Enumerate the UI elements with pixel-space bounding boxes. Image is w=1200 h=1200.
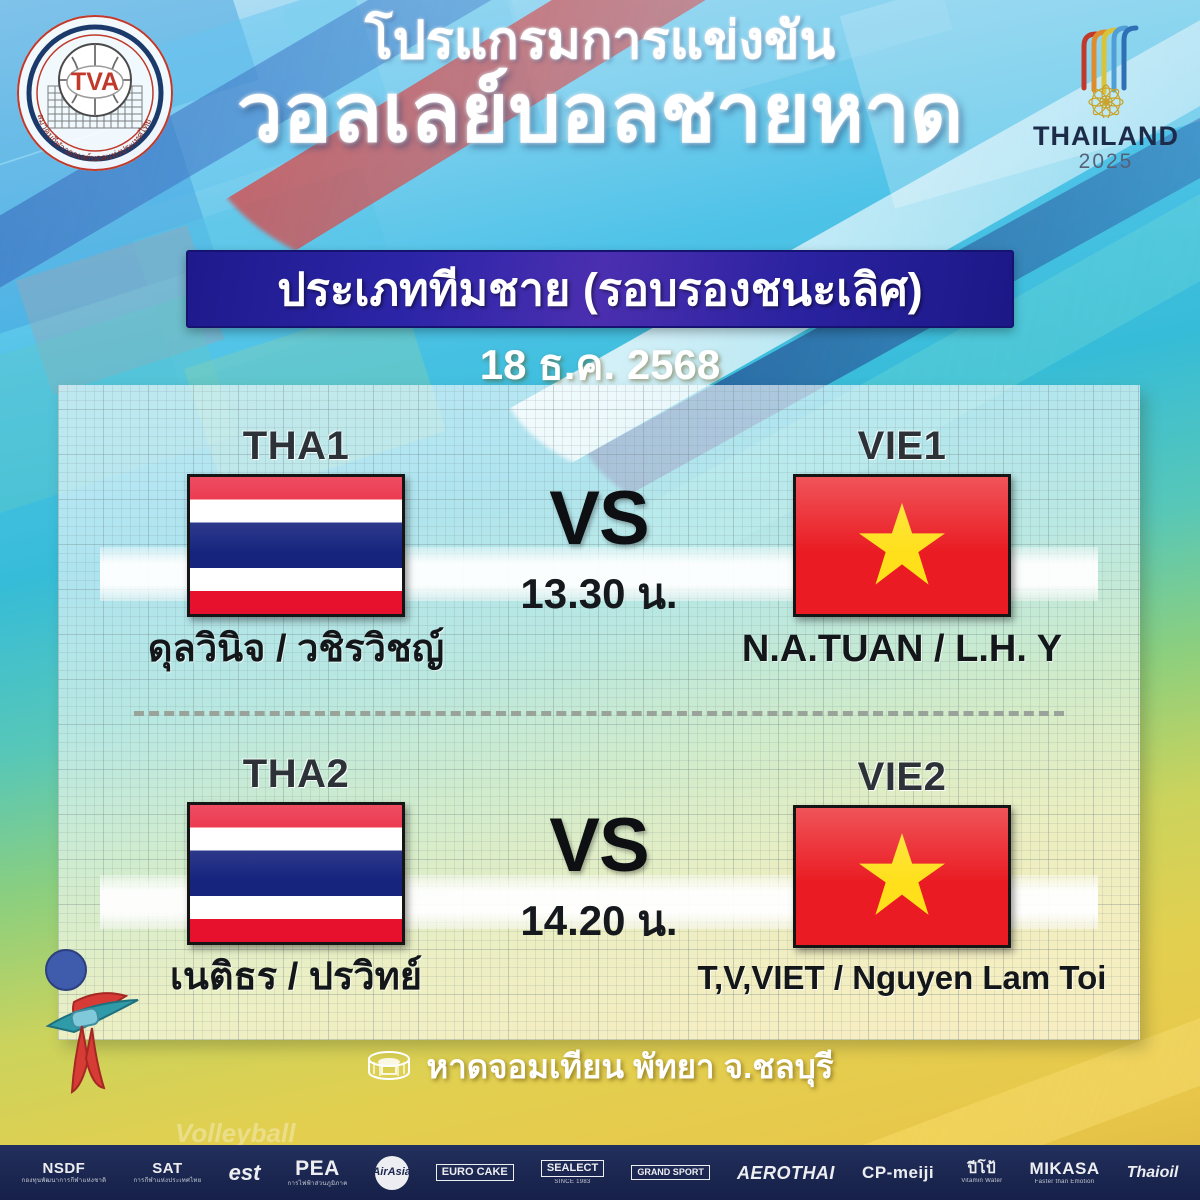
sponsor-sub: การกีฬาแห่งประเทศไทย	[133, 1178, 201, 1184]
sponsor-name: PEA	[295, 1158, 340, 1179]
sponsor-logo: NSDF กองทุนพัฒนาการกีฬาแห่งชาติ	[22, 1161, 107, 1184]
match-side-right: VIE2 T,V,VIET / Nguyen Lam Toi	[707, 757, 1097, 996]
sponsor-name: AEROTHAI	[737, 1164, 835, 1182]
sponsor-bar: NSDF กองทุนพัฒนาการกีฬาแห่งชาติ SAT การก…	[0, 1145, 1200, 1200]
player-names: N.A.TUAN / L.H. Y	[742, 629, 1062, 671]
sponsor-sub: การไฟฟ้าส่วนภูมิภาค	[288, 1181, 348, 1187]
sponsor-name: GRAND SPORT	[631, 1165, 710, 1180]
sponsor-logo: SEALECT SINCE 1983	[541, 1160, 604, 1185]
sponsor-name: NSDF	[43, 1161, 86, 1176]
category-banner: ประเภททีมชาย (รอบรองชนะเลิศ)	[186, 250, 1014, 328]
poster-root: TVA สมาคมกีฬาวอลเลย์บอลแห่งประเทศไทย	[0, 0, 1200, 1200]
star-icon	[859, 503, 945, 589]
sponsor-name: SEALECT	[541, 1160, 604, 1177]
title-line-1: โปรแกรมการแข่งขัน	[0, 14, 1200, 69]
matches-panel: THA1 ดุลวินิจ / วชิรวิชญ์ VS 13.30 น. VI…	[58, 385, 1140, 1040]
sponsor-logo: MIKASA Faster than Emotion	[1030, 1160, 1100, 1185]
match-center: VS 14.20 น.	[491, 810, 707, 942]
sponsor-sub: Vitamin Water	[961, 1178, 1002, 1184]
team-code: THA2	[243, 754, 349, 794]
match-side-right: VIE1 N.A.TUAN / L.H. Y	[707, 426, 1097, 671]
page-title: โปรแกรมการแข่งขัน วอลเลย์บอลชายหาด	[0, 14, 1200, 157]
thailand-flag	[187, 474, 405, 617]
sponsor-logo: AirAsia	[375, 1156, 409, 1190]
title-line-2: วอลเลย์บอลชายหาด	[0, 71, 1200, 157]
sponsor-name: Thaioil	[1127, 1165, 1179, 1181]
sponsor-logo: EURO CAKE	[436, 1164, 514, 1181]
team-code: VIE1	[858, 426, 947, 466]
star-icon	[859, 833, 945, 919]
player-names: ดุลวินิจ / วชิรวิชญ์	[148, 629, 444, 671]
sponsor-logo: AEROTHAI	[737, 1164, 835, 1182]
match-time: 14.20 น.	[520, 900, 677, 942]
vietnam-flag	[793, 474, 1011, 617]
sponsor-name: MIKASA	[1030, 1160, 1100, 1177]
sponsor-logo: GRAND SPORT	[631, 1165, 710, 1180]
team-code: VIE2	[858, 757, 947, 797]
sponsor-logo: Thaioil	[1127, 1165, 1179, 1181]
player-names: T,V,VIET / Nguyen Lam Toi	[698, 960, 1107, 996]
venue-text: หาดจอมเทียน พัทยา จ.ชลบุรี	[426, 1040, 833, 1093]
vs-label: VS	[549, 483, 648, 555]
match-row: THA1 ดุลวินิจ / วชิรวิชญ์ VS 13.30 น. VI…	[58, 385, 1140, 713]
sponsor-logo: PEA การไฟฟ้าส่วนภูมิภาค	[288, 1158, 348, 1187]
match-center: VS 13.30 น.	[491, 483, 707, 615]
team-code: THA1	[243, 426, 349, 466]
mascot-decoration	[30, 940, 210, 1120]
match-time: 13.30 น.	[520, 573, 677, 615]
vs-label: VS	[549, 810, 648, 882]
vietnam-flag	[793, 805, 1011, 948]
sponsor-name: CP-meiji	[862, 1164, 934, 1181]
sponsor-logo: SAT การกีฬาแห่งประเทศไทย	[133, 1161, 201, 1184]
category-banner-text: ประเภททีมชาย (รอบรองชนะเลิศ)	[277, 253, 923, 325]
stadium-icon	[366, 1050, 412, 1084]
sponsor-logo: CP-meiji	[862, 1164, 934, 1181]
sponsor-name: est	[229, 1162, 261, 1184]
sponsor-sub: Faster than Emotion	[1035, 1179, 1095, 1185]
sponsor-sub: SINCE 1983	[554, 1179, 590, 1185]
sponsor-name: AirAsia	[375, 1156, 409, 1190]
match-side-left: THA1 ดุลวินิจ / วชิรวิชญ์	[101, 426, 491, 671]
sponsor-name: SAT	[152, 1161, 182, 1176]
sponsor-logo: ปีโป้ Vitamin Water	[961, 1161, 1002, 1184]
match-row: THA2 เนติธร / ปรวิทย์ VS 14.20 น. VIE2 T…	[58, 713, 1140, 1041]
thailand-flag	[187, 802, 405, 945]
match-divider	[134, 711, 1064, 716]
sponsor-name: ปีโป้	[968, 1161, 997, 1176]
sponsor-sub: กองทุนพัฒนาการกีฬาแห่งชาติ	[22, 1178, 107, 1184]
sponsor-logo: est	[229, 1162, 261, 1184]
sponsor-name: EURO CAKE	[436, 1164, 514, 1181]
